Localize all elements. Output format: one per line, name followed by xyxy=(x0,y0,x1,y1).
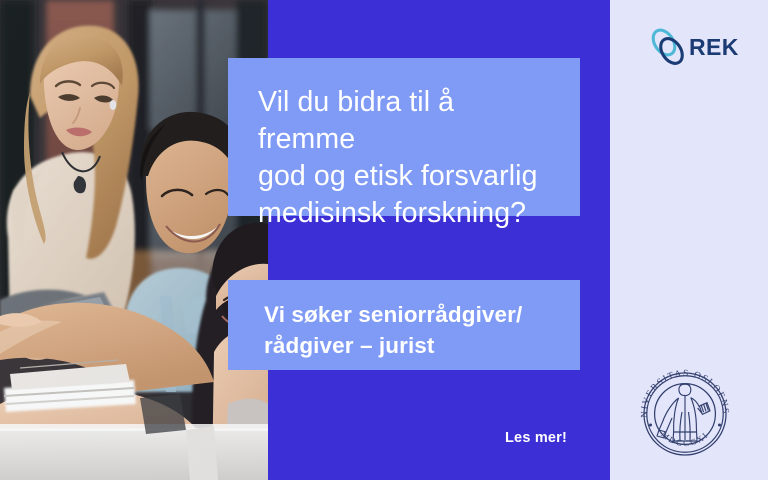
uio-seal: UNIVERSITAS OSLOENSIS MDCCCXI xyxy=(633,362,737,466)
headline-text: Vil du bidra til å fremme god og etisk f… xyxy=(258,84,558,232)
rek-wordmark: REK xyxy=(689,36,739,59)
job-advert-banner: Vil du bidra til å fremme god og etisk f… xyxy=(0,0,768,480)
rek-logo[interactable]: REK xyxy=(648,24,740,70)
rek-ellipses-icon xyxy=(648,26,688,68)
role-box: Vi søker seniorrådgiver/ rådgiver – juri… xyxy=(228,280,580,370)
read-more-link[interactable]: Les mer! xyxy=(505,430,567,446)
role-text: Vi søker seniorrådgiver/ rådgiver – juri… xyxy=(264,299,562,361)
headline-box: Vil du bidra til å fremme god og etisk f… xyxy=(228,58,580,216)
